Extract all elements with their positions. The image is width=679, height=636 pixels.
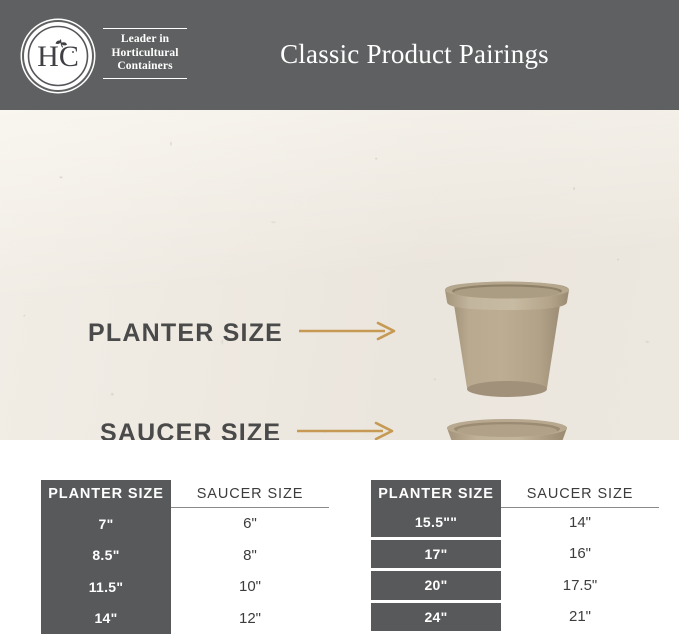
column-header-saucer-size: SAUCER SIZE bbox=[171, 480, 329, 508]
cell-saucer-size: 6" bbox=[171, 515, 329, 532]
cell-planter-size: 15.5"" bbox=[371, 508, 501, 537]
table-row: 8.5" 8" bbox=[41, 540, 329, 572]
cell-saucer-size: 8" bbox=[171, 547, 329, 564]
cell-planter-size: 11.5" bbox=[41, 579, 171, 595]
cell-planter-size: 7" bbox=[41, 516, 171, 532]
hero-section: PLANTER SIZE SAUCER SIZE bbox=[0, 110, 679, 440]
page-title: Classic Product Pairings bbox=[0, 39, 679, 70]
table-row: 15.5"" 14" bbox=[371, 508, 659, 540]
planter-size-label: PLANTER SIZE bbox=[88, 319, 283, 348]
cell-planter-size: 24" bbox=[371, 603, 501, 632]
page-header: HC Leader in Horticultural Containers Cl… bbox=[0, 0, 679, 110]
cell-saucer-size: 17.5" bbox=[501, 571, 659, 600]
right-arrow-icon bbox=[299, 321, 397, 346]
table-body: 7" 6" 8.5" 8" 11.5" 10" 14" 12" bbox=[41, 508, 329, 634]
tagline-rule-top bbox=[103, 28, 187, 29]
right-arrow-icon bbox=[297, 421, 395, 440]
planter-size-callout: PLANTER SIZE bbox=[88, 319, 397, 348]
size-table-right: PLANTER SIZE SAUCER SIZE 15.5"" 14" 17" … bbox=[371, 480, 659, 634]
column-header-planter-size: PLANTER SIZE bbox=[371, 480, 501, 508]
size-table-left: PLANTER SIZE SAUCER SIZE 7" 6" 8.5" 8" 1… bbox=[41, 480, 329, 634]
cell-saucer-size: 10" bbox=[171, 578, 329, 595]
cell-planter-size: 14" bbox=[41, 610, 171, 626]
table-header-row: PLANTER SIZE SAUCER SIZE bbox=[41, 480, 329, 508]
saucer-size-label: SAUCER SIZE bbox=[100, 419, 281, 440]
cell-saucer-size: 21" bbox=[501, 603, 659, 632]
cell-planter-size: 20" bbox=[371, 571, 501, 600]
table-row: 11.5" 10" bbox=[41, 571, 329, 603]
stone-texture-background bbox=[0, 110, 679, 440]
saucer-dish-image bbox=[437, 412, 577, 440]
table-row: 7" 6" bbox=[41, 508, 329, 540]
cell-saucer-size: 12" bbox=[171, 610, 329, 627]
tagline-rule-bottom bbox=[103, 78, 187, 79]
table-row: 20" 17.5" bbox=[371, 571, 659, 603]
table-row: 14" 12" bbox=[41, 603, 329, 635]
cell-saucer-size: 16" bbox=[501, 540, 659, 569]
column-header-saucer-size: SAUCER SIZE bbox=[501, 480, 659, 508]
table-header-row: PLANTER SIZE SAUCER SIZE bbox=[371, 480, 659, 508]
saucer-size-callout: SAUCER SIZE bbox=[100, 419, 395, 440]
cell-planter-size: 8.5" bbox=[41, 547, 171, 563]
table-row: 24" 21" bbox=[371, 603, 659, 635]
cell-planter-size: 17" bbox=[371, 540, 501, 569]
table-row: 17" 16" bbox=[371, 540, 659, 572]
table-body: 15.5"" 14" 17" 16" 20" 17.5" 24" 21" bbox=[371, 508, 659, 634]
cell-saucer-size: 14" bbox=[501, 508, 659, 537]
column-header-planter-size: PLANTER SIZE bbox=[41, 480, 171, 508]
planter-pot-image bbox=[437, 276, 577, 403]
